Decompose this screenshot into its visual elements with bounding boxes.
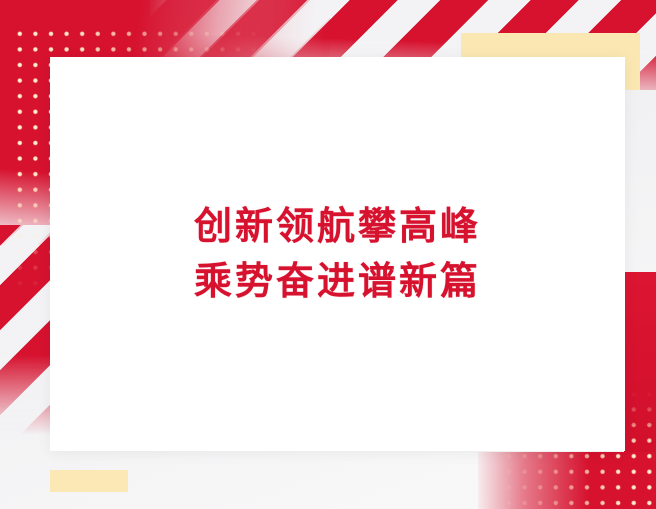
headline-line-2: 乘势奋进谱新篇 [194, 261, 481, 302]
gold-accent-bar [50, 470, 128, 492]
gold-bracket-vertical [625, 33, 640, 90]
headline-block: 创新领航攀高峰 乘势奋进谱新篇 [50, 57, 625, 451]
poster-canvas: 创新领航攀高峰 乘势奋进谱新篇 [0, 0, 656, 509]
headline-line-1: 创新领航攀高峰 [194, 206, 481, 247]
gold-bracket-horizontal [461, 33, 640, 58]
